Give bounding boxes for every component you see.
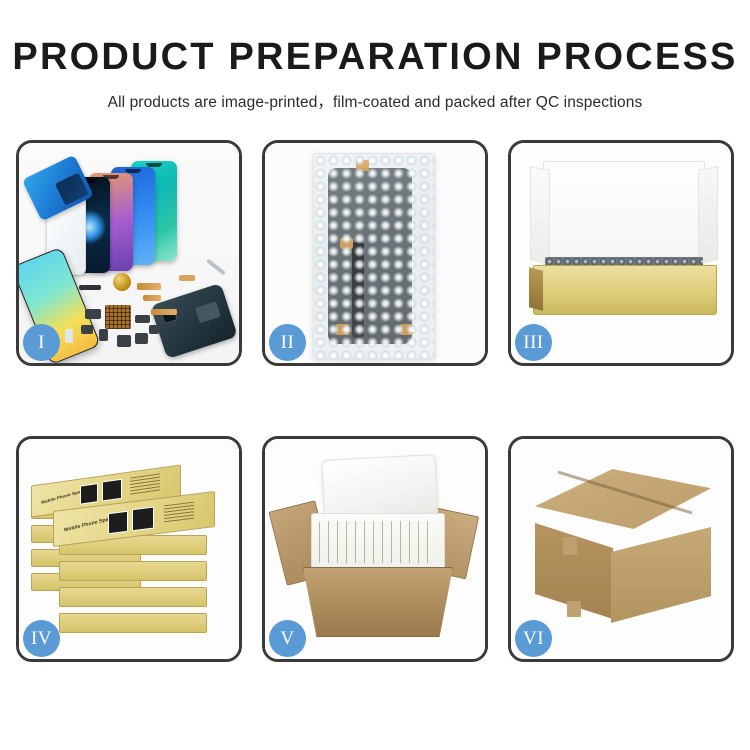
page-subtitle: All products are image-printed，film-coat… [0,90,750,112]
process-steps-grid: I II [16,140,734,662]
flex-cable-part [143,295,161,301]
vibrator-part [135,333,148,344]
screwdriver-icon [206,259,226,276]
phone-back-housing [150,283,238,359]
small-part [149,325,159,334]
box-layer [59,613,207,633]
box-print-lines [164,502,194,524]
step-panel-3: III [508,140,734,366]
box-window [108,511,128,534]
box-layer [59,561,207,581]
box-window [102,479,122,502]
step-panel-2: II [262,140,488,366]
flex-cable-part [151,309,177,315]
step-panel-4: Mobile Phone Spare Parts Mobile Phone Sp… [16,436,242,662]
carton-tape [563,537,577,555]
bubble-texture [314,154,434,358]
carton-top-face [535,469,711,529]
box-yellow-body [533,265,717,315]
step-panel-1: I [16,140,242,366]
page-title: PRODUCT PREPARATION PROCESS [0,38,750,78]
bracket-part [99,329,108,341]
connector-part [81,325,93,334]
antenna-part [79,285,101,290]
camera-part [117,335,131,347]
yellow-boxes-inside [319,521,435,563]
box-side-flap [529,267,543,310]
step-badge-2: II [269,324,306,361]
step-badge-1: I [23,324,60,361]
step-badge-4: IV [23,620,60,657]
flex-cable-part [137,283,161,290]
box-window [132,507,154,532]
step-badge-5: V [269,620,306,657]
carton-tape [567,601,581,617]
box-layer [59,587,207,607]
bubble-wrap-bag [313,153,435,359]
flex-part [135,315,150,323]
carton-body [303,567,453,637]
step-panel-6: VI [508,436,734,662]
box-white-lid [543,161,705,271]
sim-tray-part [65,329,73,343]
box-print-lines [130,473,160,495]
page-header: PRODUCT PREPARATION PROCESS All products… [0,0,750,112]
step-panel-5: V [262,436,488,662]
step-badge-6: VI [515,620,552,657]
box-window [80,483,98,505]
connector-part [85,309,101,319]
chip-component [105,305,131,329]
step-badge-3: III [515,324,552,361]
carton-right-face [611,527,711,623]
speaker-component [113,273,131,291]
flex-cable-part [179,275,195,281]
